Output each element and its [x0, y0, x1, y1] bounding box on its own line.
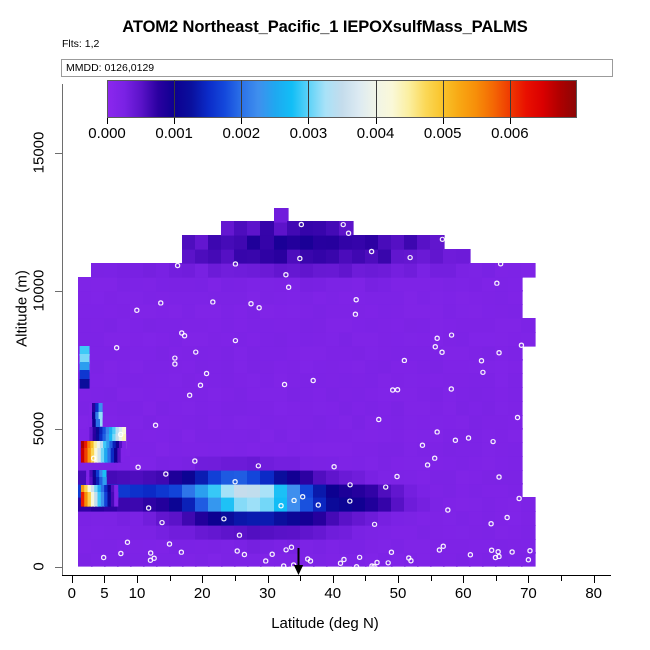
latitude-arrow-marker [293, 548, 304, 575]
x-axis-tick-label: 0 [68, 585, 76, 602]
y-axis-tick-label: 0 [31, 531, 48, 601]
x-axis-tick [202, 576, 203, 583]
x-axis-tick [72, 576, 73, 583]
x-axis-tick [463, 576, 464, 583]
x-axis-tick-label: 30 [259, 585, 276, 602]
heatmap-canvas [62, 84, 610, 575]
x-axis-tick-label: 60 [455, 585, 472, 602]
x-axis-minor-tick [496, 576, 497, 581]
x-axis-title: Latitude (deg N) [0, 615, 650, 632]
x-axis-tick [528, 576, 529, 583]
x-axis-tick-label: 50 [390, 585, 407, 602]
y-axis-tick [55, 153, 62, 154]
y-axis-tick [55, 291, 62, 292]
x-axis-tick [594, 576, 595, 583]
y-axis-tick [55, 567, 62, 568]
x-axis-tick-label: 80 [585, 585, 602, 602]
x-axis-tick-label: 20 [194, 585, 211, 602]
y-axis-tick-label: 5000 [31, 393, 48, 463]
y-axis-tick-label: 10000 [31, 255, 48, 325]
mmdd-label: MMDD: 0126,0129 [66, 62, 154, 74]
curtain-plot-figure: ATOM2 Northeast_Pacific_1 IEPOXsulfMass_… [0, 0, 650, 650]
x-axis-tick-label: 70 [520, 585, 537, 602]
page-title: ATOM2 Northeast_Pacific_1 IEPOXsulfMass_… [0, 18, 650, 37]
x-axis-tick [268, 576, 269, 583]
x-axis-tick-label: 40 [324, 585, 341, 602]
y-axis-tick-label: 15000 [31, 117, 48, 187]
heatmap-data-area [62, 84, 610, 575]
x-axis-tick [398, 576, 399, 583]
x-axis-tick [104, 576, 105, 583]
x-axis-tick-label: 10 [129, 585, 146, 602]
x-axis-minor-tick [170, 576, 171, 581]
x-axis-tick [137, 576, 138, 583]
x-axis-minor-tick [300, 576, 301, 581]
mmdd-box: MMDD: 0126,0129 [61, 59, 613, 77]
y-axis-tick [55, 429, 62, 430]
flights-label: Flts: 1,2 [62, 38, 99, 50]
x-axis-tick [333, 576, 334, 583]
x-axis-minor-tick [235, 576, 236, 581]
x-axis-minor-tick [365, 576, 366, 581]
y-axis-title: Altitude (m) [14, 249, 31, 369]
x-axis-minor-tick [431, 576, 432, 581]
x-axis-tick-label: 5 [100, 585, 108, 602]
x-axis-minor-tick [561, 576, 562, 581]
